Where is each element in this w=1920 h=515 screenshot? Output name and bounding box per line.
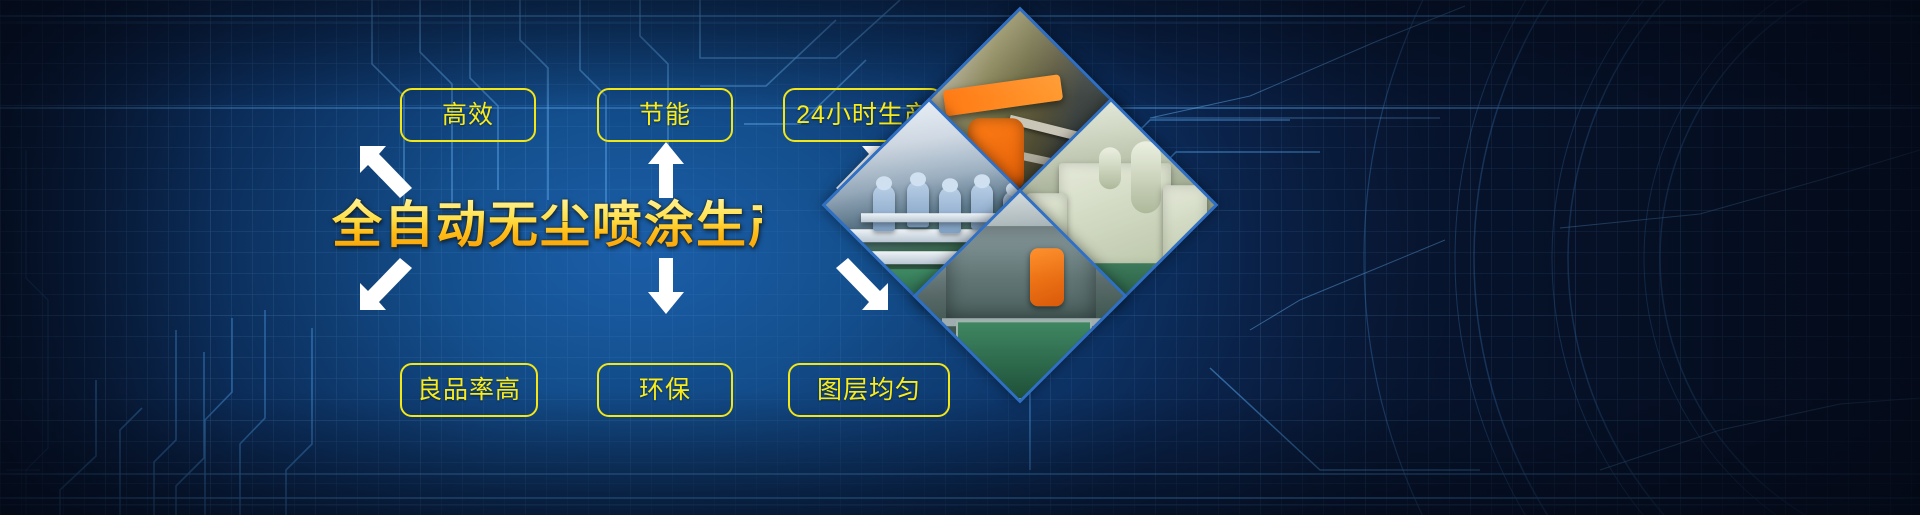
arrow-down-icon — [648, 258, 684, 316]
feature-pill-top-0[interactable]: 高效 — [400, 88, 536, 142]
feature-pill-label: 高效 — [442, 103, 494, 128]
diamond-photo-collage — [850, 35, 1190, 380]
feature-pill-label: 环保 — [639, 378, 691, 403]
banner-title: 全自动无尘喷涂生产线 — [332, 194, 762, 256]
feature-pill-bottom-0[interactable]: 良品率高 — [400, 363, 538, 417]
feature-pill-label: 图层均匀 — [817, 378, 921, 403]
feature-pill-label: 节能 — [639, 103, 691, 128]
arrow-up-left-icon — [352, 140, 422, 198]
feature-pill-top-1[interactable]: 节能 — [597, 88, 733, 142]
feature-pill-bottom-1[interactable]: 环保 — [597, 363, 733, 417]
arrow-down-left-icon — [352, 258, 422, 316]
promotional-banner: 高效 节能 24小时生产 全自动无尘喷涂生产线 全自动无尘喷涂生产线 — [0, 0, 1920, 515]
arrow-up-icon — [648, 140, 684, 198]
feature-pill-label: 良品率高 — [417, 378, 521, 403]
